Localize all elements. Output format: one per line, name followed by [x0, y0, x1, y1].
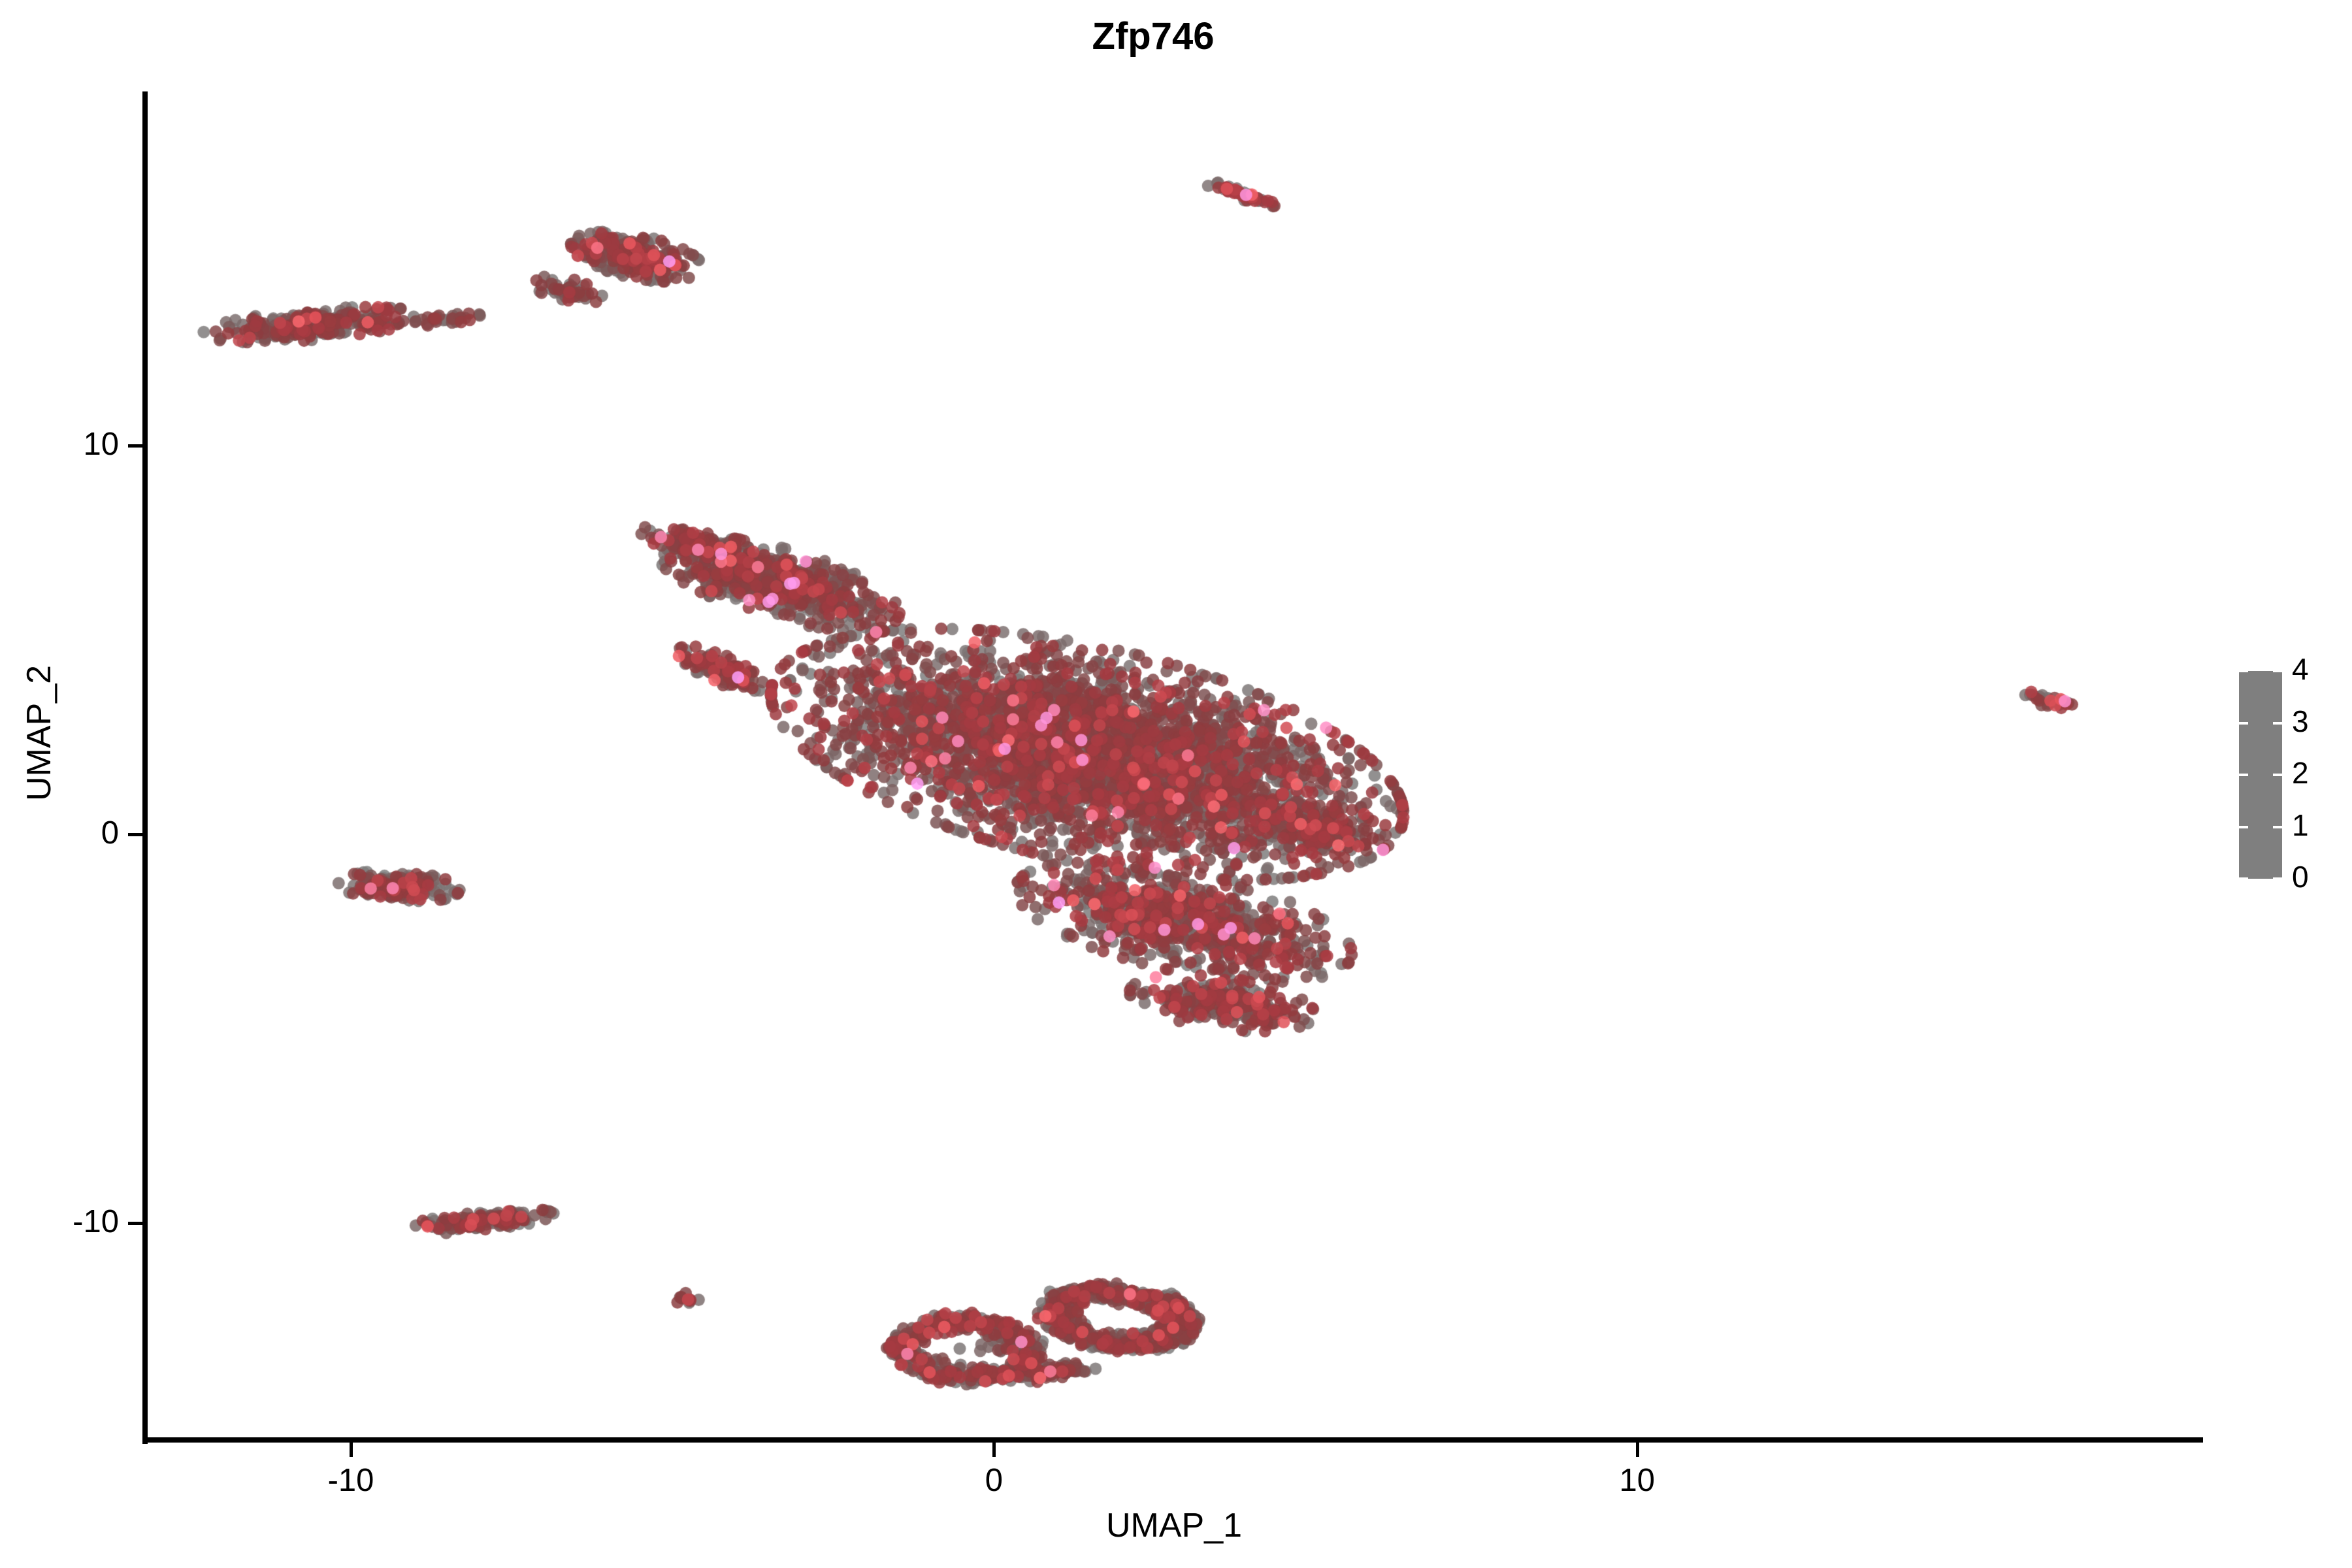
plot-panel — [145, 91, 2203, 1441]
y-tick-label: 0 — [0, 815, 119, 851]
colorbar-label: 1 — [2292, 808, 2309, 843]
x-tick--10 — [350, 1443, 353, 1457]
colorbar-tick-mark — [2239, 774, 2248, 776]
y-tick-label: -10 — [0, 1203, 119, 1240]
colorbar-tick-mark — [2273, 826, 2282, 828]
colorbar-label: 0 — [2292, 859, 2309, 894]
y-tick-0 — [128, 833, 142, 836]
x-tick-10 — [1636, 1443, 1639, 1457]
legend-colorbar: 43210 — [2234, 660, 2339, 895]
y-tick--10 — [128, 1222, 142, 1225]
x-tick-label: 0 — [928, 1462, 1059, 1499]
colorbar-tick-mark — [2239, 826, 2248, 828]
y-tick-label: 10 — [0, 426, 119, 463]
scatter-points-canvas — [145, 91, 2203, 1441]
colorbar-label: 2 — [2292, 755, 2309, 791]
colorbar-tick-mark — [2239, 670, 2248, 672]
colorbar-tick-mark — [2273, 877, 2282, 880]
colorbar-tick-mark — [2273, 774, 2282, 776]
x-axis-title: UMAP_1 — [145, 1506, 2203, 1545]
y-tick-10 — [128, 444, 142, 448]
colorbar-label: 3 — [2292, 704, 2309, 739]
x-tick-label: -10 — [286, 1462, 416, 1499]
colorbar-tick-mark — [2239, 722, 2248, 725]
y-axis-line — [142, 91, 148, 1444]
x-axis-line — [142, 1437, 2203, 1443]
colorbar-label: 4 — [2292, 651, 2309, 687]
colorbar-tick-mark — [2273, 722, 2282, 725]
colorbar-tick-mark — [2239, 877, 2248, 880]
colorbar-tick-mark — [2273, 670, 2282, 672]
x-tick-0 — [992, 1443, 996, 1457]
page-title: Zfp746 — [0, 14, 2329, 58]
x-tick-label: 10 — [1572, 1462, 1703, 1499]
umap-feature-plot: Zfp746 -10010 100-10 UMAP_1 UMAP_2 43210 — [0, 0, 2352, 1568]
y-axis-title: UMAP_2 — [20, 439, 59, 1027]
